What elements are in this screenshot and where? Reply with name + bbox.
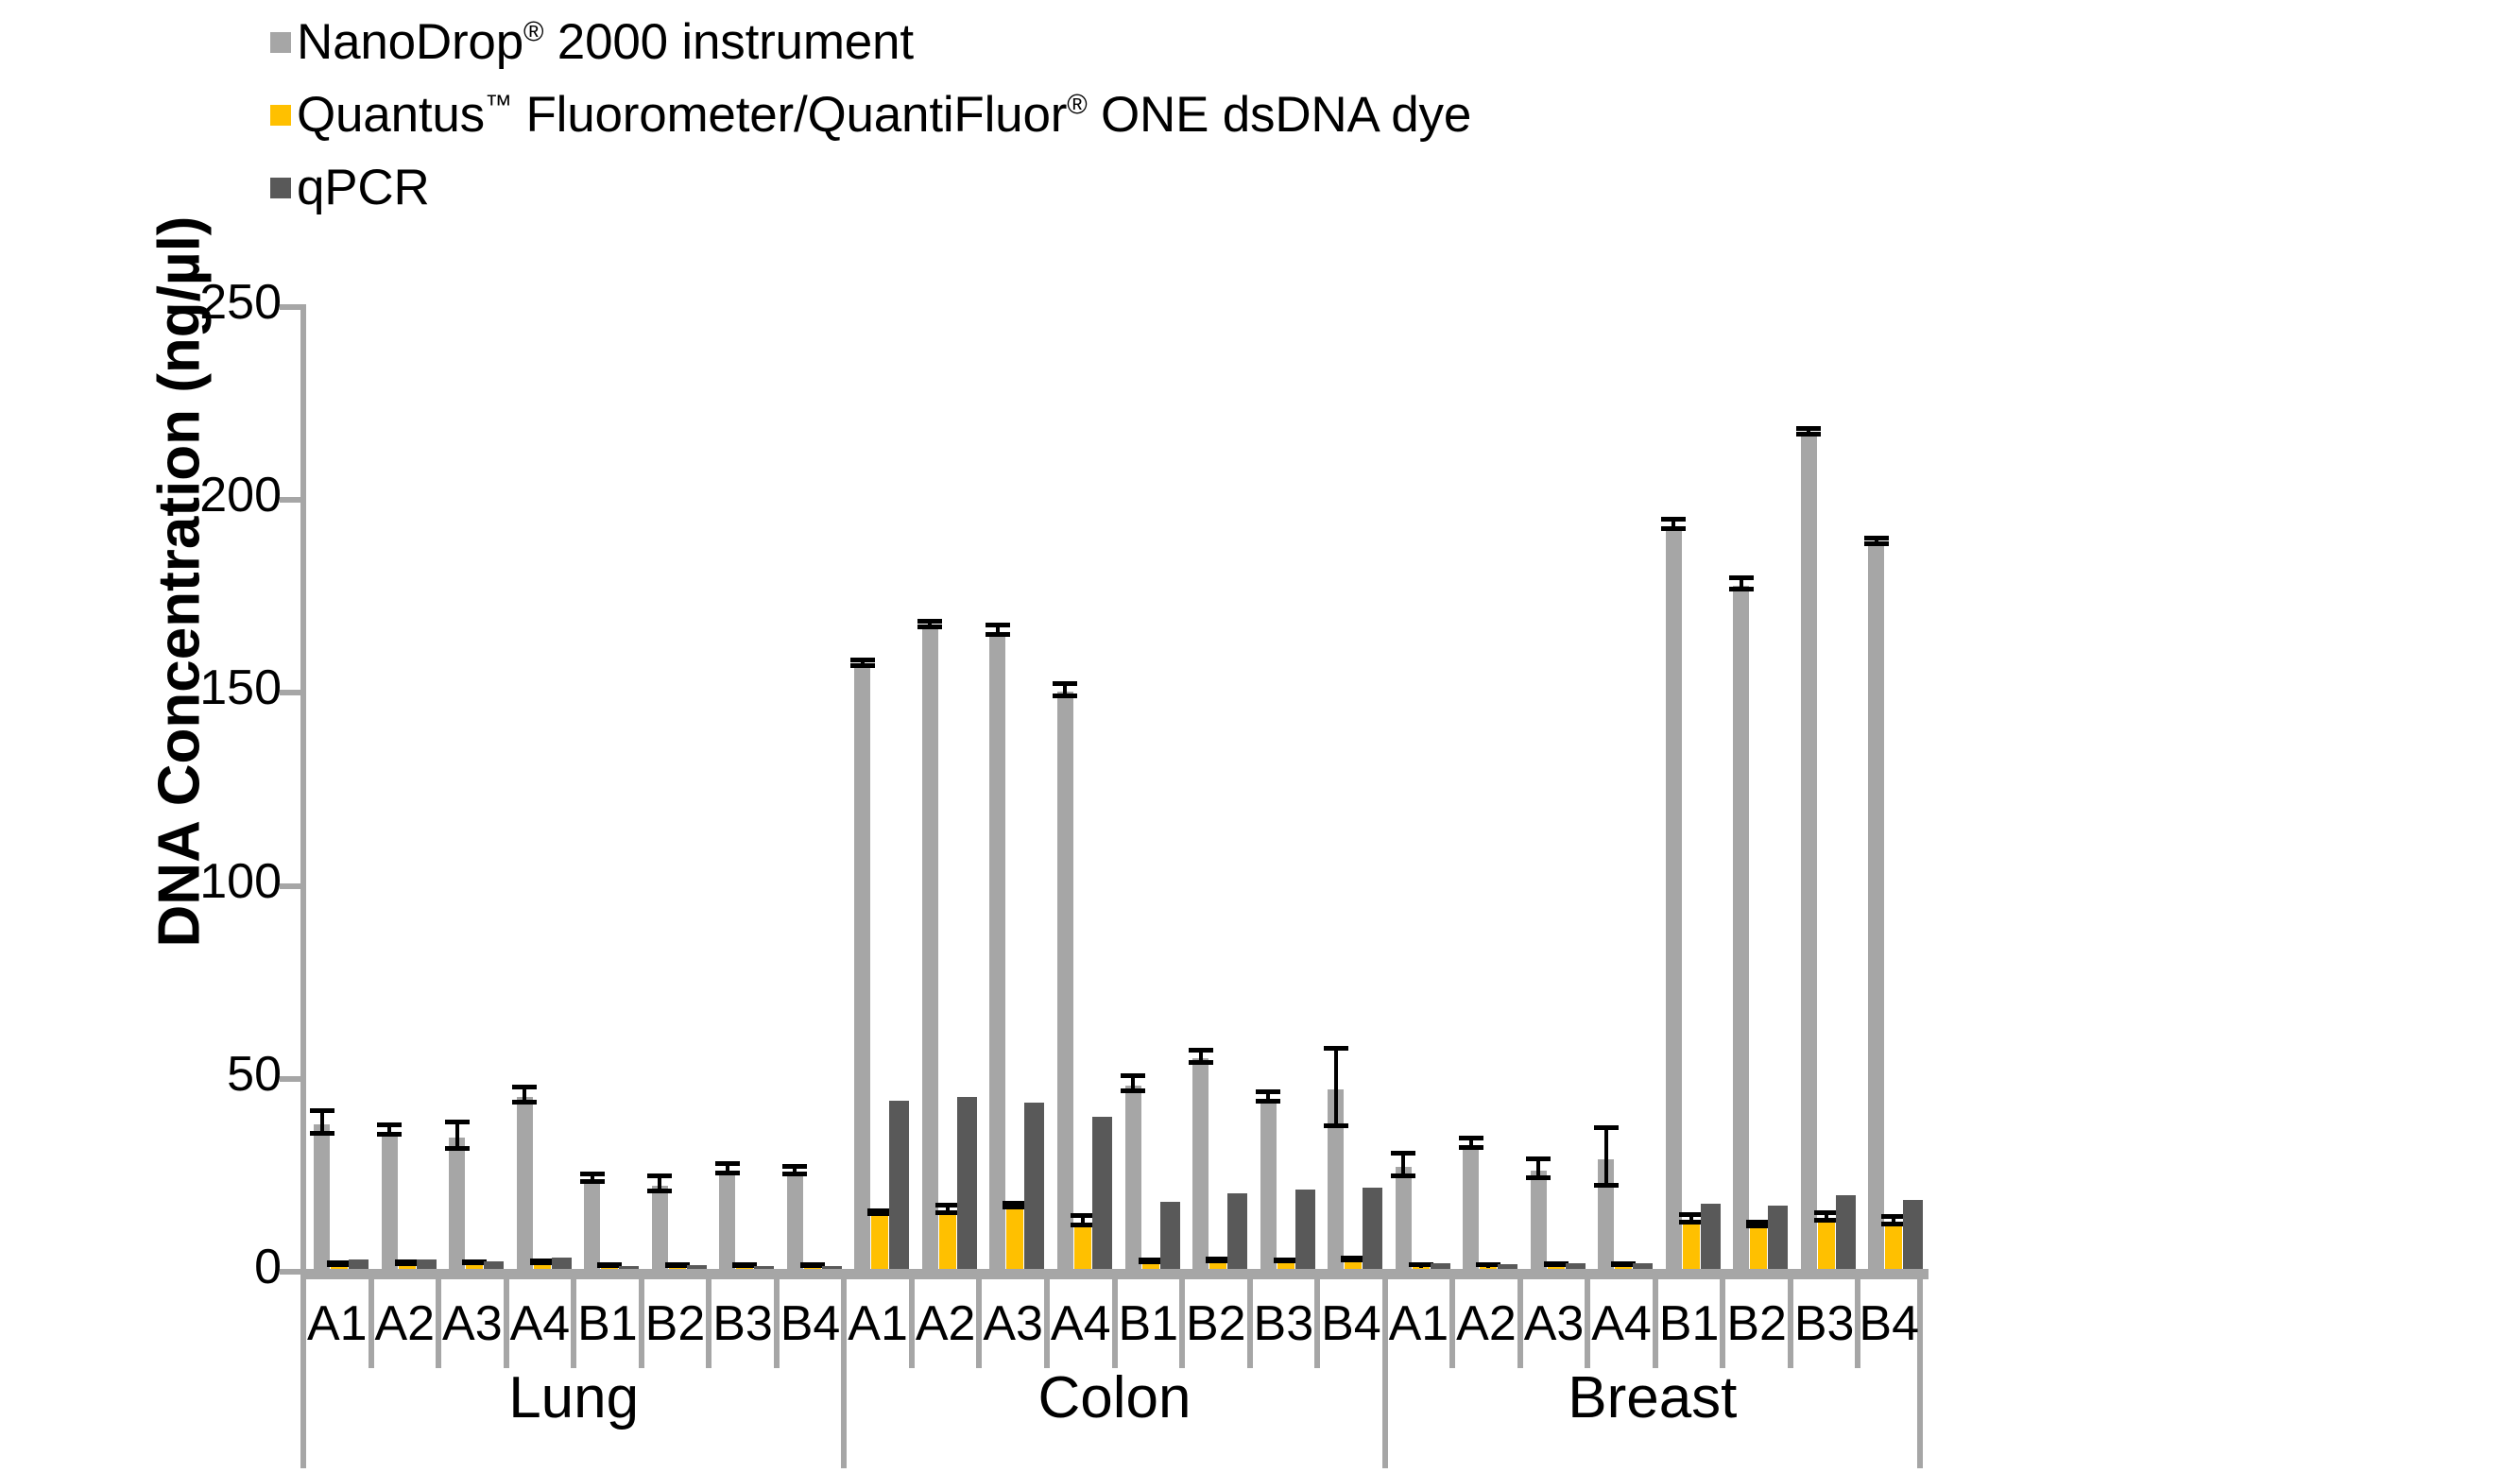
bar-nanodrop <box>1868 543 1884 1269</box>
bar-qpcr <box>1633 1263 1653 1269</box>
bar-cluster <box>374 304 442 1269</box>
error-bar-cap <box>1053 694 1077 698</box>
y-axis-tick-labels: 250200150100500 <box>149 0 282 1473</box>
bar-cluster <box>1793 304 1861 1269</box>
bar-qpcr <box>1701 1204 1721 1269</box>
category-label-row: A1A2A3A4B1B2B3B4A1A2A3A4B1B2B3B4A1A2A3A4… <box>300 1279 1929 1368</box>
category-label: A3 <box>442 1299 503 1348</box>
bar-cluster <box>1590 304 1658 1269</box>
bar-nanodrop <box>922 626 938 1269</box>
category-label: B3 <box>1254 1299 1314 1348</box>
category-cell-colon-B3: B3 <box>1247 1279 1315 1368</box>
category-label: B2 <box>645 1299 706 1348</box>
error-bar-cap <box>850 658 875 662</box>
error-bar-cap <box>647 1189 672 1193</box>
category-cell-lung-A4: A4 <box>504 1279 572 1368</box>
category-cell-lung-B1: B1 <box>571 1279 639 1368</box>
category-label: A2 <box>916 1299 976 1348</box>
bar-nanodrop <box>1057 692 1073 1269</box>
error-bar-cap <box>1459 1136 1483 1140</box>
y-tick-mark-200 <box>280 497 302 503</box>
category-cell-lung-A3: A3 <box>436 1279 504 1368</box>
error-bar-stem <box>1334 1051 1338 1128</box>
error-bar-stem <box>1604 1130 1608 1188</box>
y-tick-mark-250 <box>280 304 302 310</box>
category-label: B3 <box>1794 1299 1855 1348</box>
category-cell-colon-B2: B2 <box>1179 1279 1247 1368</box>
bar-quantus <box>939 1211 956 1269</box>
bar-nanodrop <box>382 1132 398 1269</box>
category-label: B4 <box>1859 1299 1919 1348</box>
error-bar-cap <box>782 1164 807 1169</box>
category-label: B2 <box>1726 1299 1787 1348</box>
error-bar-cap <box>1256 1089 1280 1094</box>
group-cell-lung: Lung <box>300 1368 841 1468</box>
bar-qpcr <box>619 1266 639 1269</box>
error-bar-cap <box>1661 526 1686 531</box>
category-label: A2 <box>1456 1299 1517 1348</box>
error-bar-cap <box>377 1122 402 1127</box>
error-bar-cap <box>377 1132 402 1137</box>
error-bar-cap <box>1324 1123 1348 1128</box>
error-bar-cap <box>1459 1145 1483 1150</box>
error-bar-cap <box>1594 1183 1619 1188</box>
bar-cluster <box>441 304 509 1269</box>
y-tick-mark-50 <box>280 1076 302 1082</box>
error-bar-cap <box>1594 1125 1619 1130</box>
y-tick-label-0: 0 <box>149 1242 282 1292</box>
bar-qpcr <box>1092 1117 1112 1269</box>
category-cell-colon-A3: A3 <box>976 1279 1044 1368</box>
error-bar-cap <box>782 1172 807 1176</box>
bar-quantus <box>1345 1261 1362 1269</box>
bar-qpcr <box>1498 1264 1517 1269</box>
bar-qpcr <box>1431 1263 1450 1269</box>
bar-series-container <box>306 304 1929 1269</box>
bar-nanodrop <box>314 1124 330 1269</box>
bar-nanodrop <box>1192 1058 1209 1269</box>
category-cell-lung-B4: B4 <box>774 1279 842 1368</box>
bar-cluster <box>509 304 577 1269</box>
category-cell-breast-A3: A3 <box>1517 1279 1586 1368</box>
category-cell-lung-A2: A2 <box>369 1279 437 1368</box>
bar-nanodrop <box>1463 1145 1479 1269</box>
bar-nanodrop <box>1125 1086 1141 1269</box>
bar-nanodrop <box>584 1180 600 1269</box>
bar-qpcr <box>1903 1200 1923 1270</box>
category-label: B1 <box>1659 1299 1720 1348</box>
category-cell-lung-A1: A1 <box>300 1279 369 1368</box>
bar-cluster <box>1185 304 1253 1269</box>
bar-qpcr <box>1363 1188 1382 1269</box>
category-cell-colon-A1: A1 <box>841 1279 909 1368</box>
bar-quantus <box>871 1215 888 1269</box>
bar-nanodrop <box>1733 586 1749 1269</box>
group-label: Lung <box>508 1368 639 1428</box>
bar-nanodrop <box>1801 434 1817 1269</box>
category-label: A1 <box>848 1299 908 1348</box>
error-bar-cap <box>715 1171 740 1175</box>
y-tick-label-50: 50 <box>149 1050 282 1099</box>
error-bar-cap <box>1053 681 1077 686</box>
bar-qpcr <box>957 1097 977 1269</box>
bar-quantus <box>1885 1223 1902 1269</box>
bar-cluster <box>847 304 915 1269</box>
error-bar-cap <box>1864 536 1889 540</box>
error-bar-cap <box>850 663 875 668</box>
group-label: Breast <box>1568 1368 1737 1428</box>
bar-qpcr <box>1836 1195 1856 1269</box>
y-tick-mark-150 <box>280 690 302 695</box>
category-label: A4 <box>510 1299 571 1348</box>
bar-quantus <box>1750 1226 1767 1269</box>
bar-cluster <box>576 304 644 1269</box>
category-label: B1 <box>577 1299 638 1348</box>
bar-qpcr <box>484 1261 504 1269</box>
bar-cluster <box>1253 304 1321 1269</box>
error-bar-cap <box>1121 1073 1145 1078</box>
bar-quantus <box>1209 1262 1226 1269</box>
bar-cluster <box>1523 304 1591 1269</box>
bar-cluster <box>711 304 780 1269</box>
bar-qpcr <box>552 1258 572 1269</box>
bar-qpcr <box>1227 1193 1247 1269</box>
bar-nanodrop <box>449 1138 465 1269</box>
chart-plot-area: DNA Concentration (ng/µl) 25020015010050… <box>0 0 2520 1473</box>
category-label: A4 <box>1051 1299 1111 1348</box>
category-cell-colon-A4: A4 <box>1044 1279 1112 1368</box>
y-tick-mark-100 <box>280 883 302 889</box>
y-tick-label-150: 150 <box>149 663 282 712</box>
error-bar-cap <box>1391 1173 1415 1178</box>
error-bar-cap <box>1189 1048 1213 1053</box>
bar-cluster <box>644 304 712 1269</box>
bar-cluster <box>1050 304 1118 1269</box>
error-bar-cap <box>1256 1099 1280 1104</box>
bar-cluster <box>306 304 374 1269</box>
bar-qpcr <box>349 1259 369 1269</box>
bar-qpcr <box>1160 1202 1180 1269</box>
bar-qpcr <box>1024 1103 1044 1269</box>
group-cell-breast: Breast <box>1382 1368 1923 1468</box>
category-cell-lung-B2: B2 <box>639 1279 707 1368</box>
category-cell-colon-A2: A2 <box>909 1279 977 1368</box>
category-label: B2 <box>1186 1299 1246 1348</box>
error-bar-cap <box>986 632 1010 637</box>
group-cell-colon: Colon <box>841 1368 1381 1468</box>
bar-quantus <box>1006 1208 1023 1269</box>
y-tick-label-250: 250 <box>149 278 282 327</box>
category-cell-breast-A4: A4 <box>1585 1279 1653 1368</box>
error-bar-cap <box>986 623 1010 627</box>
error-bar-cap <box>1324 1046 1348 1051</box>
error-bar-cap <box>310 1108 334 1113</box>
error-bar-cap <box>917 619 942 624</box>
bar-nanodrop <box>1260 1099 1277 1269</box>
bar-quantus <box>1683 1221 1700 1269</box>
x-axis-line <box>300 1269 1929 1279</box>
error-bar-cap <box>1189 1060 1213 1065</box>
category-cell-breast-B2: B2 <box>1720 1279 1788 1368</box>
error-bar-cap <box>1391 1151 1415 1156</box>
error-bar-cap <box>1796 426 1821 431</box>
bar-qpcr <box>822 1266 842 1269</box>
error-bar-cap <box>715 1161 740 1166</box>
bar-nanodrop <box>1531 1171 1547 1269</box>
bar-nanodrop <box>652 1186 668 1269</box>
bar-qpcr <box>687 1265 707 1269</box>
bar-qpcr <box>1295 1190 1315 1269</box>
error-bar-cap <box>580 1179 605 1184</box>
group-label-row: LungColonBreast <box>300 1368 1929 1468</box>
error-bar-cap <box>1729 587 1754 591</box>
error-bar-cap <box>445 1120 470 1124</box>
error-bar-cap <box>1661 517 1686 522</box>
category-cell-colon-B1: B1 <box>1112 1279 1180 1368</box>
bar-cluster <box>1118 304 1186 1269</box>
bar-cluster <box>915 304 983 1269</box>
bar-nanodrop <box>854 665 870 1269</box>
error-bar-cap <box>445 1146 470 1151</box>
category-label: B3 <box>712 1299 773 1348</box>
bar-nanodrop <box>787 1173 803 1269</box>
bar-cluster <box>1860 304 1929 1269</box>
error-bar-cap <box>512 1100 537 1105</box>
bar-qpcr <box>889 1101 909 1269</box>
error-bar-cap <box>647 1173 672 1178</box>
bar-cluster <box>1388 304 1456 1269</box>
bar-qpcr <box>754 1266 774 1269</box>
bar-cluster <box>1320 304 1388 1269</box>
bar-nanodrop <box>989 632 1005 1269</box>
bar-cluster <box>1725 304 1793 1269</box>
y-tick-label-100: 100 <box>149 857 282 906</box>
category-label: A2 <box>374 1299 435 1348</box>
error-bar-cap <box>310 1131 334 1136</box>
category-label: A1 <box>1389 1299 1449 1348</box>
bar-cluster <box>982 304 1050 1269</box>
category-label: B1 <box>1118 1299 1178 1348</box>
bar-quantus <box>1818 1219 1835 1269</box>
bar-nanodrop <box>719 1171 735 1269</box>
error-bar-cap <box>1121 1088 1145 1093</box>
bar-cluster <box>1455 304 1523 1269</box>
category-cell-colon-B4: B4 <box>1314 1279 1382 1368</box>
error-bar-cap <box>1526 1156 1551 1161</box>
error-bar-cap <box>580 1172 605 1176</box>
error-bar-cap <box>1526 1175 1551 1180</box>
bar-nanodrop <box>1666 526 1682 1269</box>
bar-cluster <box>780 304 848 1269</box>
category-cell-breast-B1: B1 <box>1653 1279 1721 1368</box>
y-tick-mark-0 <box>280 1269 302 1275</box>
group-label: Colon <box>1037 1368 1191 1428</box>
category-label: A3 <box>983 1299 1043 1348</box>
bar-cluster <box>1658 304 1726 1269</box>
category-label: A1 <box>307 1299 368 1348</box>
error-bar-cap <box>1729 575 1754 580</box>
bar-quantus <box>1142 1263 1159 1269</box>
category-label: A3 <box>1524 1299 1585 1348</box>
bar-quantus <box>1277 1262 1294 1269</box>
category-label: B4 <box>780 1299 841 1348</box>
category-cell-breast-A1: A1 <box>1382 1279 1450 1368</box>
category-cell-lung-B3: B3 <box>706 1279 774 1368</box>
bar-qpcr <box>417 1259 437 1269</box>
bar-qpcr <box>1566 1263 1586 1269</box>
bar-nanodrop <box>517 1097 533 1269</box>
bar-quantus <box>1074 1223 1091 1269</box>
category-label: B4 <box>1321 1299 1381 1348</box>
category-cell-breast-A2: A2 <box>1449 1279 1517 1368</box>
bar-qpcr <box>1768 1206 1788 1269</box>
error-bar-cap <box>1796 432 1821 437</box>
bar-nanodrop <box>1396 1167 1412 1269</box>
y-tick-label-200: 200 <box>149 471 282 520</box>
error-bar-cap <box>1864 541 1889 546</box>
category-cell-breast-B4: B4 <box>1855 1279 1923 1368</box>
category-cell-breast-B3: B3 <box>1788 1279 1856 1368</box>
error-bar-cap <box>917 625 942 629</box>
error-bar-cap <box>512 1085 537 1089</box>
category-label: A4 <box>1591 1299 1652 1348</box>
